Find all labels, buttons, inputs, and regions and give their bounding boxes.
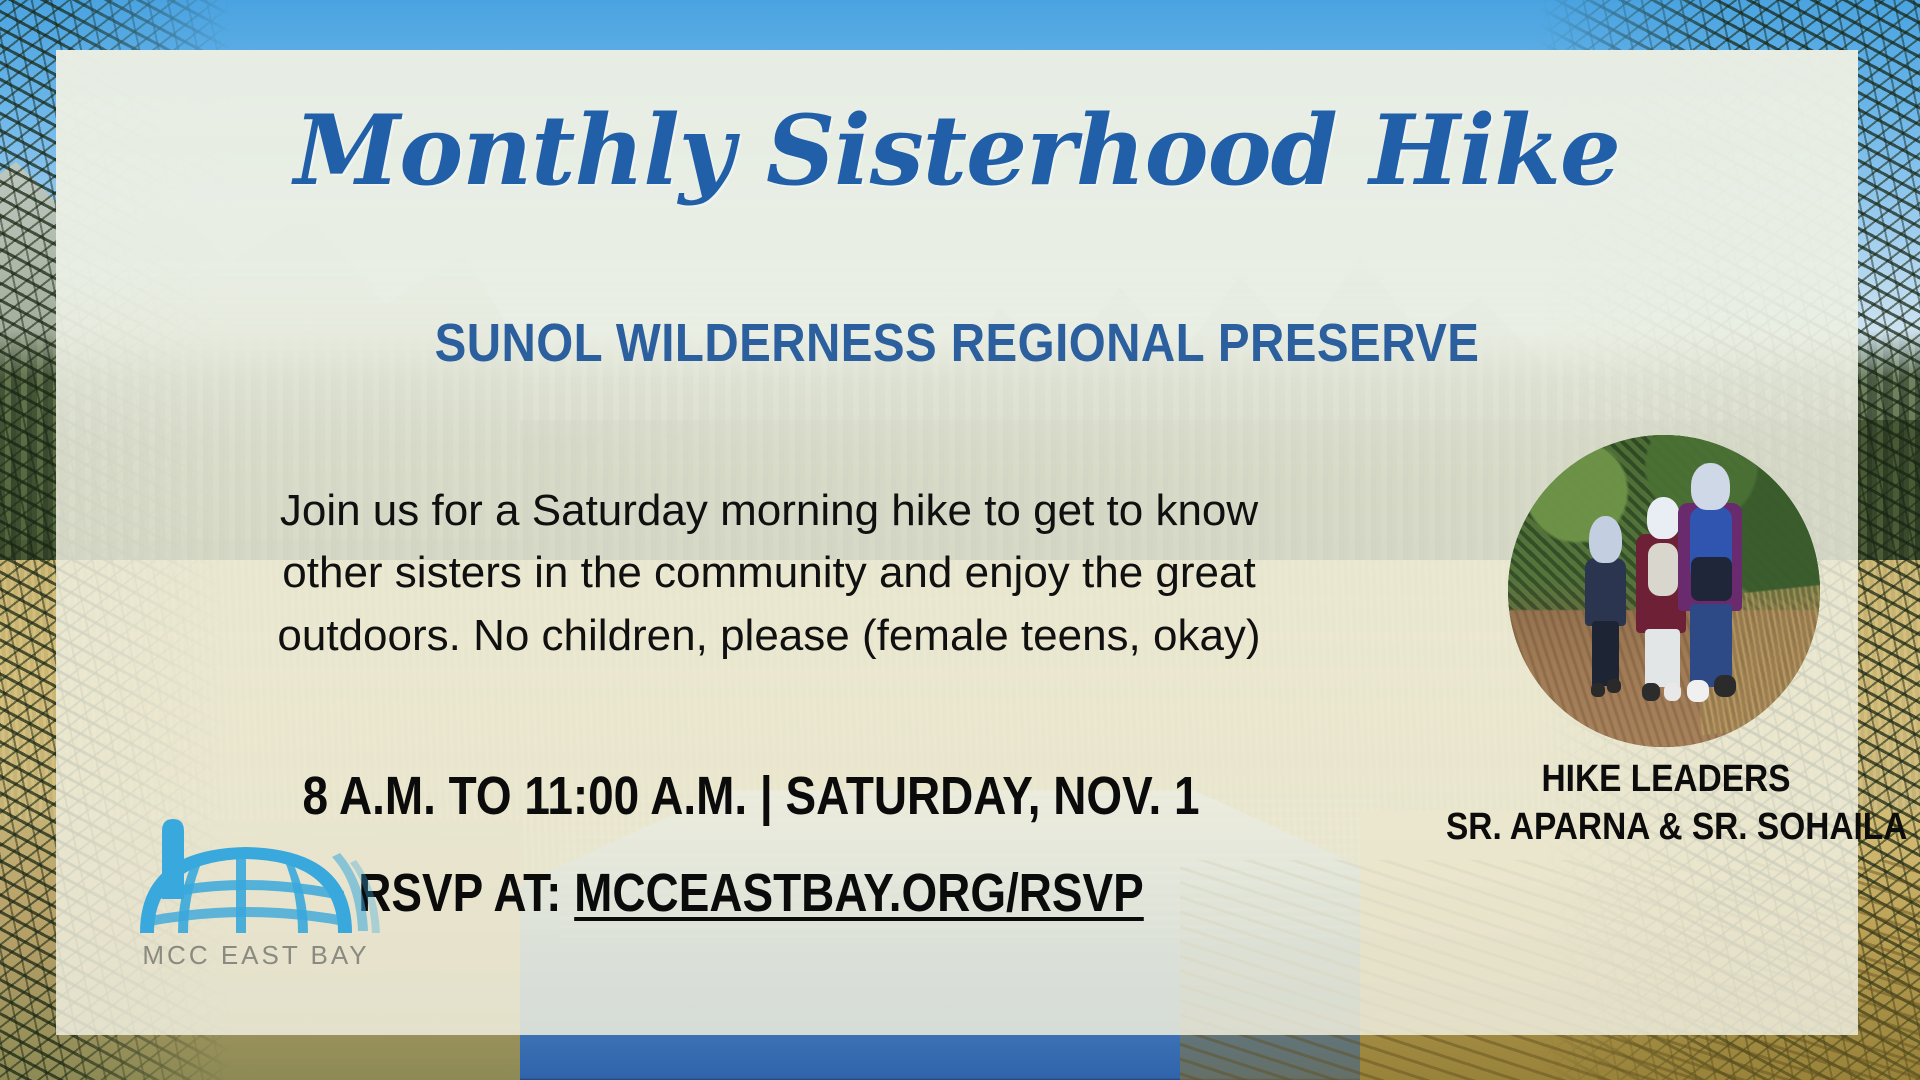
hijab-head-icon (1589, 516, 1622, 563)
hiker-figure-left (1580, 516, 1633, 697)
page-title: Monthly Sisterhood Hike (56, 102, 1858, 200)
backpack-lower-icon (1691, 557, 1731, 601)
description-paragraph: Join us for a Saturday morning hike to g… (144, 480, 1394, 667)
hiker-shoe (1687, 680, 1709, 702)
hike-leaders-block: HIKE LEADERS SR. APARNA & SR. SOHAILA (1446, 756, 1886, 851)
hiker-legs (1592, 621, 1619, 686)
hikers-photo (1508, 435, 1820, 747)
rsvp-label: RSVP AT: (358, 863, 574, 923)
hiker-figure-right (1673, 463, 1748, 709)
hiker-torso (1585, 558, 1626, 627)
hiker-shoe (1642, 683, 1660, 702)
description-line-3: outdoors. No children, please (female te… (144, 605, 1394, 667)
hiker-shoe (1591, 683, 1605, 697)
hike-leaders-heading: HIKE LEADERS (1446, 756, 1886, 804)
hiker-shoe (1714, 675, 1736, 697)
location-subtitle: SUNOL WILDERNESS REGIONAL PRESERVE (164, 312, 1750, 374)
rsvp-link[interactable]: MCCEASTBAY.ORG/RSVP (574, 863, 1144, 923)
hijab-head-icon (1691, 463, 1730, 510)
logo-wordmark: MCC EAST BAY (126, 940, 386, 971)
hiker-shoe (1607, 679, 1621, 693)
description-line-1: Join us for a Saturday morning hike to g… (144, 480, 1394, 542)
description-line-2: other sisters in the community and enjoy… (144, 542, 1394, 604)
event-flyer: Monthly Sisterhood Hike SUNOL WILDERNESS… (0, 0, 1920, 1080)
hike-leaders-names: SR. APARNA & SR. SOHAILA (1446, 804, 1886, 852)
mcc-east-bay-logo: MCC EAST BAY (126, 813, 386, 973)
content-card: Monthly Sisterhood Hike SUNOL WILDERNESS… (56, 50, 1858, 1035)
